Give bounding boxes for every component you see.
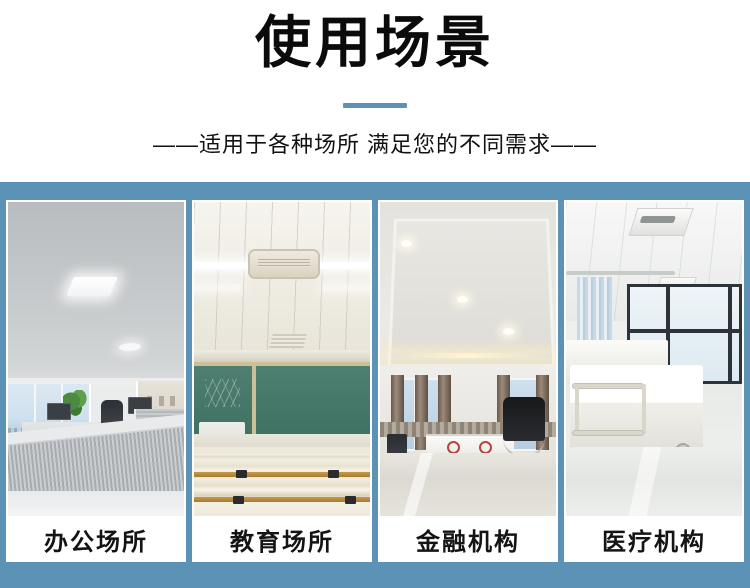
bank-floor <box>380 453 556 516</box>
ceiling-equipment-icon <box>628 208 693 236</box>
ceiling-beam <box>194 350 370 363</box>
header-section: 使用场景 ——适用于各种场所 满足您的不同需求—— <box>0 0 750 182</box>
hospital-floor <box>566 447 742 516</box>
fluorescent-tube-icon <box>324 284 370 291</box>
bed-side-rail <box>575 384 579 434</box>
chalk-writing <box>205 379 240 406</box>
bank-scene-illustration <box>380 202 556 516</box>
classroom-scene-illustration <box>194 202 370 516</box>
counter-emblem-icon <box>447 441 460 454</box>
bed-side-rail <box>573 384 643 388</box>
desk-hardware <box>236 470 247 478</box>
scene-card-finance[interactable]: 金融机构 <box>378 200 558 562</box>
scene-photo-education <box>194 202 370 516</box>
student-desks <box>194 447 370 516</box>
downlight-icon <box>503 328 514 335</box>
bed-side-rail <box>573 431 643 435</box>
office-chair-icon <box>503 397 545 441</box>
counter-emblem-icon <box>479 441 492 454</box>
scenes-band: 办公场所 <box>0 182 750 588</box>
scene-photo-office <box>8 202 184 516</box>
scene-card-label: 教育场所 <box>192 516 372 562</box>
scene-card-label: 金融机构 <box>378 516 558 562</box>
scene-card-label: 医疗机构 <box>564 516 744 562</box>
office-scene-illustration <box>8 202 184 516</box>
scene-card-office[interactable]: 办公场所 <box>6 200 186 562</box>
bed-side-rail <box>642 384 646 434</box>
monitor-icon <box>47 403 71 420</box>
ceiling-panel-light-icon <box>67 277 119 296</box>
promo-banner: 使用场景 ——适用于各种场所 满足您的不同需求—— <box>0 0 750 588</box>
desk-hardware <box>233 496 244 504</box>
scene-card-label: 办公场所 <box>6 516 186 562</box>
ceiling-vent-icon <box>270 334 307 348</box>
title-underline-divider <box>343 103 407 108</box>
fluorescent-tube-icon <box>194 284 240 291</box>
desk-hardware <box>345 496 356 504</box>
scene-card-education[interactable]: 教育场所 <box>192 200 372 562</box>
downlight-icon <box>401 240 412 247</box>
scene-card-medical[interactable]: 医疗机构 <box>564 200 744 562</box>
cove-lighting <box>384 353 553 358</box>
scene-photo-finance <box>380 202 556 516</box>
scene-card-list: 办公场所 <box>6 200 744 562</box>
coffered-ceiling <box>387 218 555 367</box>
desk-hardware <box>328 470 339 478</box>
page-subtitle: ——适用于各种场所 满足您的不同需求—— <box>0 130 750 160</box>
scene-photo-medical <box>566 202 742 516</box>
office-floor <box>8 491 184 516</box>
desk-edge-rail <box>194 472 370 477</box>
page-title: 使用场景 <box>0 12 750 74</box>
hospital-scene-illustration <box>566 202 742 516</box>
ceiling-air-conditioner-icon <box>248 249 320 279</box>
curtain-track <box>566 271 675 275</box>
ceiling-downlight-icon <box>117 343 142 351</box>
desk-edge-rail <box>194 497 370 502</box>
